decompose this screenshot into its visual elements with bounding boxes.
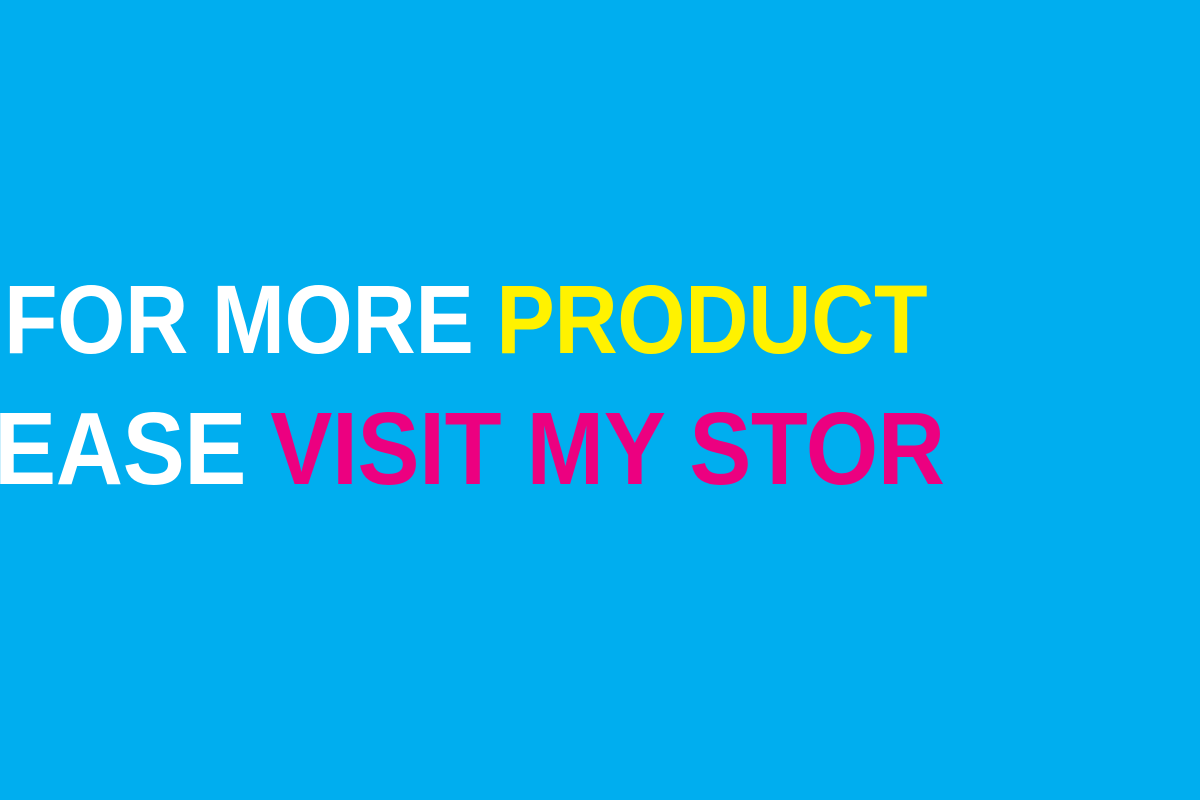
headline-line-1-white-segment: FOR MORE: [4, 265, 473, 374]
headline-line-2-magenta-segment: VISIT MY STOR: [270, 391, 944, 506]
headline-text-block: FOR MOREPRODUCT EASEVISIT MY STOR: [0, 0, 1200, 800]
headline-line-2: EASEVISIT MY STOR: [0, 397, 945, 500]
headline-line-1-yellow-segment: PRODUCT: [496, 265, 927, 374]
headline-line-1: FOR MOREPRODUCT: [4, 271, 927, 368]
headline-line-2-white-segment: EASE: [0, 391, 246, 506]
promo-banner: FOR MOREPRODUCT EASEVISIT MY STOR: [0, 0, 1200, 800]
